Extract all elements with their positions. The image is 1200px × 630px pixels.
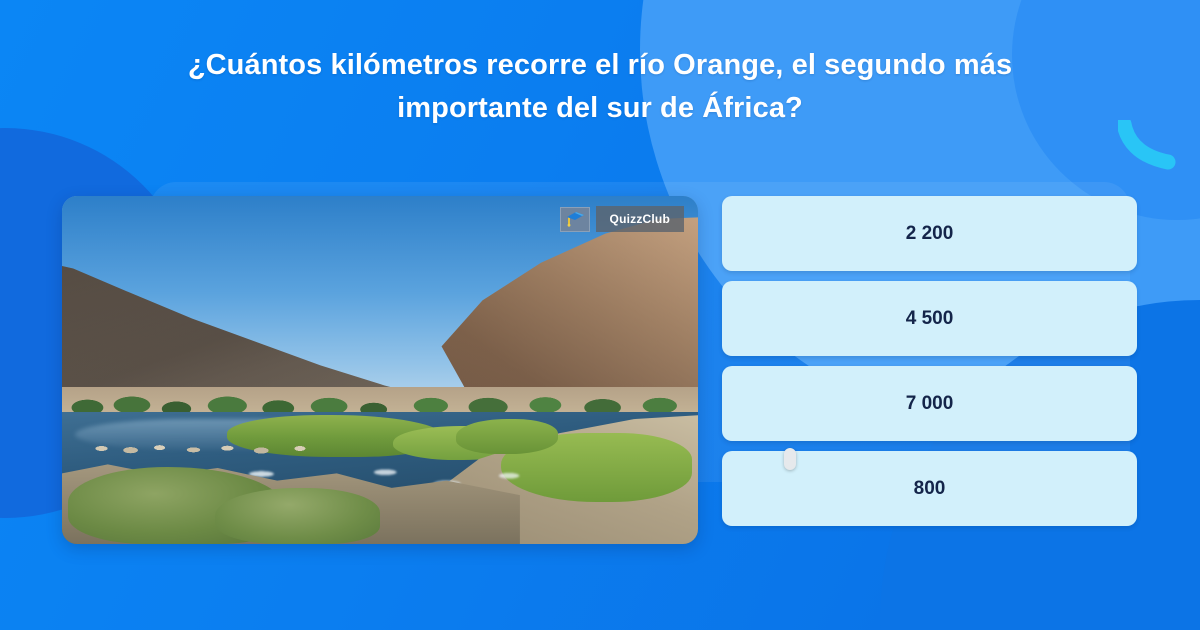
answer-option-2[interactable]: 4 500 bbox=[722, 281, 1137, 356]
watermark-label: QuizzClub bbox=[596, 206, 684, 232]
answer-option-1[interactable]: 2 200 bbox=[722, 196, 1137, 271]
answer-option-3[interactable]: 7 000 bbox=[722, 366, 1137, 441]
photo-right-bank-grass-secondary bbox=[456, 419, 558, 454]
answer-options-list: 2 200 4 500 7 000 800 bbox=[722, 196, 1137, 526]
question-title: ¿Cuántos kilómetros recorre el río Orang… bbox=[0, 44, 1200, 130]
photo-foreground-bush-secondary bbox=[215, 488, 380, 544]
question-image-card: QuizzClub bbox=[62, 196, 698, 544]
quizzclub-watermark: QuizzClub bbox=[560, 206, 684, 232]
graduation-cap-icon bbox=[560, 207, 590, 232]
scroll-thumb[interactable] bbox=[784, 448, 796, 470]
photo-rock-line bbox=[87, 440, 329, 457]
